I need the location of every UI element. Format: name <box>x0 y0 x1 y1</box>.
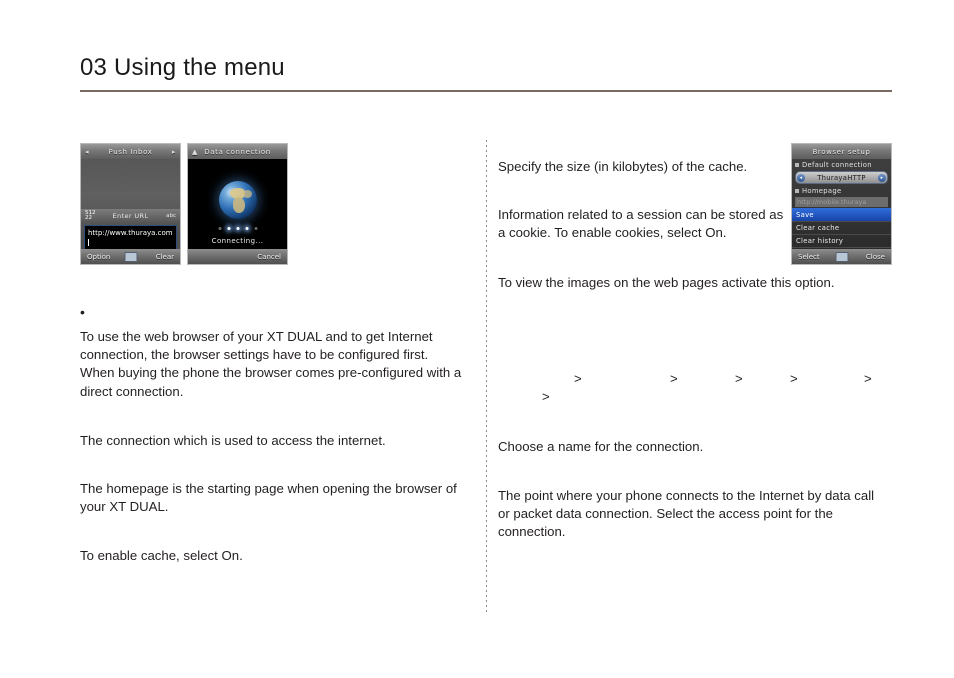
screenshot-browser-setup: Browser setup Default connection ◂ Thura… <box>791 143 892 265</box>
phone-title-bar: ▲ Data connection <box>188 144 287 159</box>
breadcrumb-separator: > <box>542 388 550 406</box>
phone-title-text: Browser setup <box>813 148 871 156</box>
phone-title-text: Data connection <box>204 148 271 156</box>
spinner-right-arrow-icon[interactable]: ▸ <box>878 174 886 182</box>
softkey-left-label: Select <box>798 253 820 261</box>
column-divider <box>486 140 487 612</box>
left-paragraph-2: The connection which is used to access t… <box>80 432 465 450</box>
screenshot-push-inbox: ◂ Push Inbox ▸ 512 22 Enter URL abc http… <box>80 143 181 265</box>
menu-item-clear-cache[interactable]: Clear cache <box>792 221 891 234</box>
menu-item-label: Clear cache <box>796 224 839 232</box>
url-input-value: http://www.thuraya.com <box>88 229 173 237</box>
globe-landmass <box>233 197 245 213</box>
bullet-square-icon <box>795 163 799 167</box>
right-paragraph-5: The point where your phone connects to t… <box>498 487 886 542</box>
default-connection-spinner[interactable]: ◂ ThurayaHTTP ▸ <box>795 171 888 184</box>
text-caret <box>88 239 89 246</box>
setting-label: Default connection <box>802 161 872 169</box>
spinner-left-arrow-icon[interactable]: ◂ <box>797 174 805 182</box>
phone-content-area: Default connection ◂ ThurayaHTTP ▸ Homep… <box>792 159 891 249</box>
right-paragraph-3: To view the images on the web pages acti… <box>498 274 886 292</box>
breadcrumb-separator: > <box>864 370 872 388</box>
signal-icon: ▲ <box>192 148 198 156</box>
homepage-url-field[interactable]: http://mobile.thuraya <box>795 197 888 207</box>
progress-dot <box>245 227 248 230</box>
character-counter: 512 22 <box>85 211 96 221</box>
softkey-left-label: Option <box>87 253 110 261</box>
keypad-icon <box>835 252 848 262</box>
left-paragraph-4: To enable cache, select On. <box>80 547 465 565</box>
menu-item-save[interactable]: Save <box>792 208 891 221</box>
breadcrumb-separator: > <box>735 370 743 388</box>
homepage-url-value: http://mobile.thuraya <box>797 198 866 206</box>
screenshot-data-connection: ▲ Data connection Connecting... Cancel <box>187 143 288 265</box>
right-paragraph-4: Choose a name for the connection. <box>498 438 886 456</box>
progress-dots <box>218 227 257 230</box>
breadcrumb-separator: > <box>790 370 798 388</box>
menu-item-clear-history[interactable]: Clear history <box>792 234 891 247</box>
globe-icon <box>219 181 257 219</box>
progress-dot <box>227 227 230 230</box>
left-paragraph-1: To use the web browser of your XT DUAL a… <box>80 328 465 401</box>
connection-status-text: Connecting... <box>188 237 287 245</box>
phone-softkey-bar: Cancel <box>188 249 287 264</box>
progress-dot <box>254 227 257 230</box>
softkey-right-label: Clear <box>156 253 174 261</box>
breadcrumb-separator: > <box>574 370 582 388</box>
right-paragraph-1: Specify the size (in kilobytes) of the c… <box>498 158 788 176</box>
url-entry-bar: 512 22 Enter URL abc <box>81 209 180 223</box>
menu-item-label: Save <box>796 211 814 219</box>
right-paragraph-2: Information related to a session can be … <box>498 206 788 242</box>
phone-softkey-bar: Option Clear <box>81 249 180 264</box>
url-input-field: http://www.thuraya.com <box>84 225 177 251</box>
setting-row-default-connection: Default connection <box>792 159 891 170</box>
spinner-value: ThurayaHTTP <box>817 174 866 182</box>
setting-row-homepage: Homepage <box>792 185 891 196</box>
keypad-icon <box>124 252 137 262</box>
phone-title-bar: ◂ Push Inbox ▸ <box>81 144 180 159</box>
left-paragraph-3: The homepage is the starting page when o… <box>80 480 472 516</box>
breadcrumb-separator: > <box>670 370 678 388</box>
phone-softkey-bar: Select Close <box>792 249 891 264</box>
setting-label: Homepage <box>802 187 841 195</box>
progress-dot <box>218 227 221 230</box>
prev-arrow-icon: ◂ <box>85 148 89 156</box>
phone-title-bar: Browser setup <box>792 144 891 159</box>
softkey-right-label: Cancel <box>257 253 281 261</box>
phone-title-text: Push Inbox <box>109 148 153 156</box>
globe-landmass <box>243 190 252 198</box>
url-entry-label: Enter URL <box>112 212 148 220</box>
progress-dot <box>236 227 239 230</box>
phone-content-area: Connecting... <box>188 159 287 249</box>
phone-content-area: 512 22 Enter URL abc http://www.thuraya.… <box>81 159 180 249</box>
breadcrumb: > > > > > > <box>498 370 892 388</box>
menu-item-label: Clear history <box>796 237 843 245</box>
softkey-right-label: Close <box>866 253 885 261</box>
page-title: 03 Using the menu <box>80 54 285 82</box>
bullet-square-icon <box>795 189 799 193</box>
title-divider-rule <box>80 90 892 92</box>
input-mode-indicator: abc <box>166 213 176 219</box>
next-arrow-icon: ▸ <box>172 148 176 156</box>
bullet-marker: • <box>80 305 85 319</box>
